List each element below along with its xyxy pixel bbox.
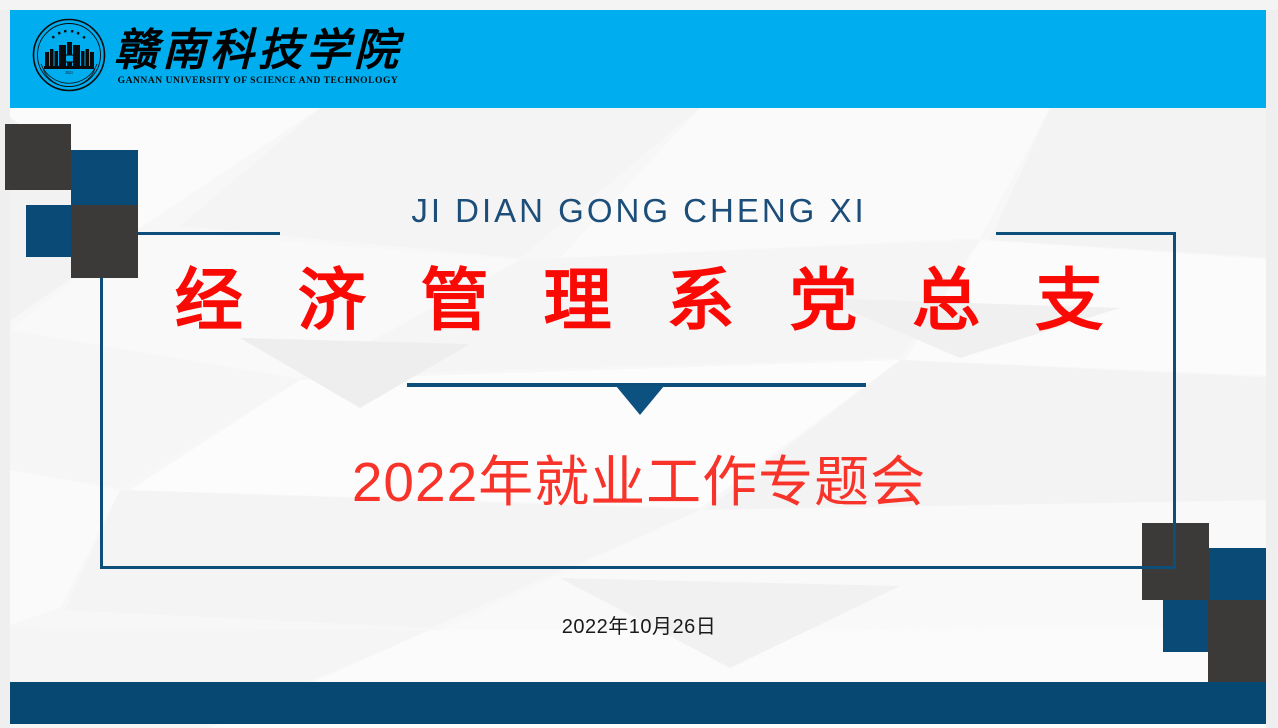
date-label: 2022年10月26日 <box>0 610 1278 639</box>
university-name-en: GANNAN UNIVERSITY OF SCIENCE AND TECHNOL… <box>114 76 402 86</box>
pinyin-heading: JI DIAN GONG CHENG XI <box>0 192 1278 230</box>
frame-line-top-left <box>138 232 280 235</box>
footer-bar <box>10 682 1266 724</box>
slide-edge-top <box>0 0 1278 10</box>
university-seal-logo: 2021 <box>32 18 106 92</box>
page-subtitle: 2022年就业工作专题会 <box>0 437 1278 517</box>
svg-text:2021: 2021 <box>65 70 73 75</box>
checker-block-blue-br-1 <box>1209 548 1266 600</box>
checker-block-dark-tl-1 <box>5 124 71 190</box>
presentation-slide: 2021 赣南科技学院 GANNAN UNIVERSITY OF SCIENCE… <box>0 0 1278 728</box>
frame-line-top-right <box>996 232 1176 235</box>
header-banner: 2021 赣南科技学院 GANNAN UNIVERSITY OF SCIENCE… <box>10 10 1266 108</box>
down-triangle-marker-icon <box>616 386 664 415</box>
frame-line-bottom <box>100 566 1176 569</box>
page-title: 经 济 管 理 系 党 总 支 <box>0 266 1278 337</box>
university-logo: 2021 赣南科技学院 GANNAN UNIVERSITY OF SCIENCE… <box>32 18 402 92</box>
university-name-cn: 赣南科技学院 <box>114 28 402 74</box>
university-name-block: 赣南科技学院 GANNAN UNIVERSITY OF SCIENCE AND … <box>114 28 402 85</box>
